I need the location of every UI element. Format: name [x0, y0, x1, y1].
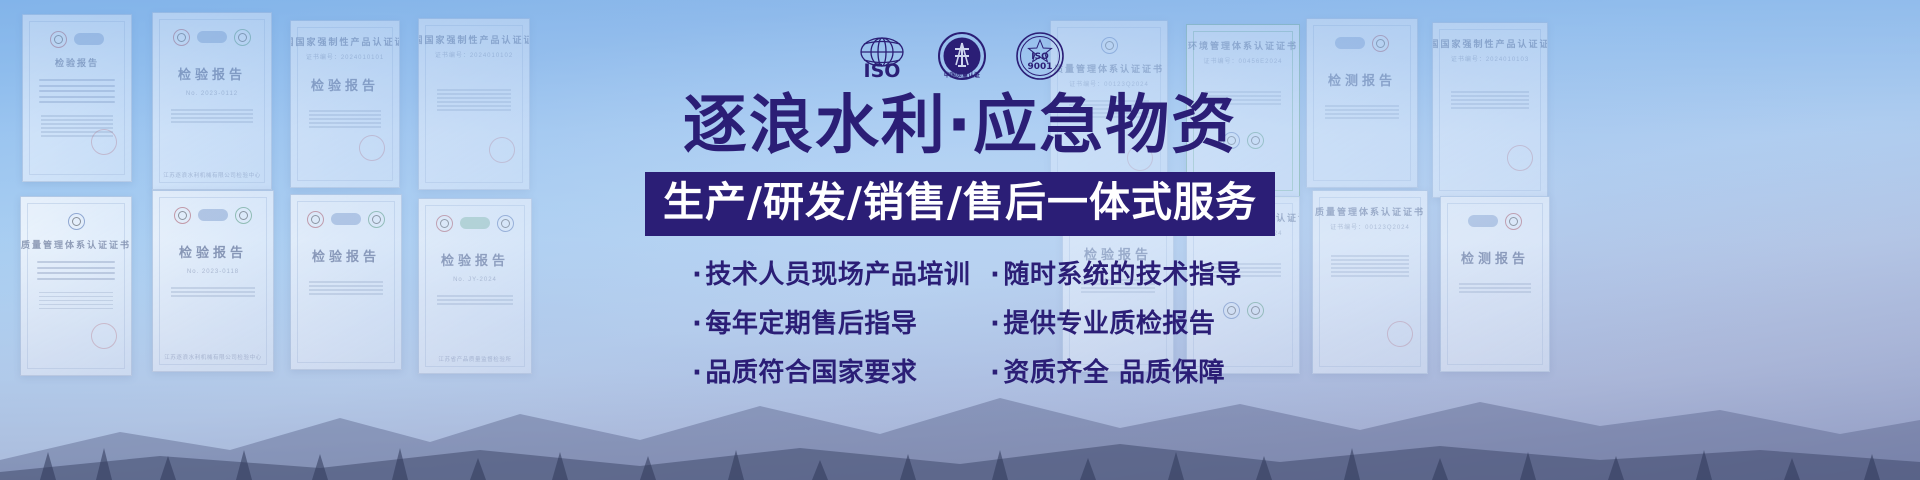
banner-subtitle-bar: 生产/研发/销售/售后一体式服务 — [645, 172, 1275, 236]
cqc-quality-icon: 中国质量认证 — [936, 31, 988, 81]
bullet-dot-icon: · — [990, 309, 1000, 339]
banner-content: ISO 中国质量认证 ISO — [0, 0, 1920, 480]
feature-label: 技术人员现场产品培训 — [705, 254, 970, 291]
promotional-banner: 检验报告 检验报告 No. 2023-0112 江苏逐浪水利机械有限公司检验中心… — [0, 0, 1920, 480]
svg-text:ISO: ISO — [1031, 52, 1049, 62]
certification-logo-row: ISO 中国质量认证 ISO — [854, 30, 1066, 82]
svg-text:中国质量认证: 中国质量认证 — [944, 71, 980, 79]
feature-label: 随时系统的技术指导 — [1003, 254, 1242, 291]
feature-item: · 随时系统的技术指导 — [990, 254, 1228, 291]
feature-item: · 每年定期售后指导 — [692, 303, 970, 340]
feature-label: 每年定期售后指导 — [705, 303, 917, 340]
feature-item: · 资质齐全 品质保障 — [990, 352, 1228, 389]
bullet-dot-icon: · — [692, 358, 702, 388]
feature-list: · 技术人员现场产品培训 · 随时系统的技术指导 · 每年定期售后指导 · 提供… — [692, 254, 1228, 389]
feature-item: · 提供专业质检报告 — [990, 303, 1228, 340]
feature-label: 资质齐全 品质保障 — [1003, 352, 1225, 389]
feature-item: · 品质符合国家要求 — [692, 352, 970, 389]
iso9001-icon: ISO 9001 — [1014, 31, 1066, 81]
feature-item: · 技术人员现场产品培训 — [692, 254, 970, 291]
bullet-dot-icon: · — [990, 358, 1000, 388]
feature-label: 提供专业质检报告 — [1003, 303, 1215, 340]
bullet-dot-icon: · — [692, 260, 702, 290]
iso-globe-icon: ISO — [854, 31, 910, 81]
bullet-dot-icon: · — [692, 309, 702, 339]
svg-text:ISO: ISO — [864, 60, 901, 81]
banner-main-title: 逐浪水利·应急物资 — [683, 94, 1237, 158]
svg-text:9001: 9001 — [1027, 62, 1052, 72]
feature-label: 品质符合国家要求 — [705, 352, 917, 389]
bullet-dot-icon: · — [990, 260, 1000, 290]
